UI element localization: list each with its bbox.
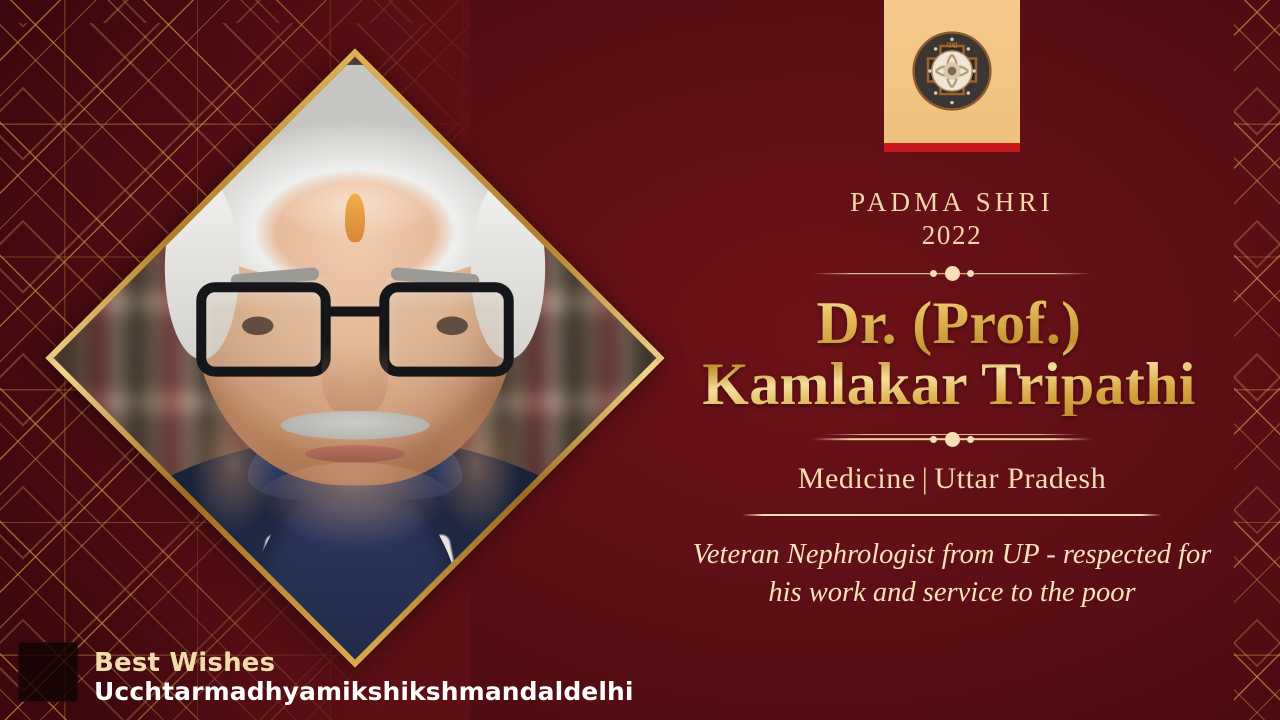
field-label: Medicine [798, 462, 916, 495]
padma-shri-award-card: पद्म [0, 0, 1280, 720]
field-and-state: Medicine|Uttar Pradesh [798, 462, 1107, 496]
svg-text:पद्म: पद्म [946, 41, 958, 51]
right-decorative-pattern [1234, 0, 1280, 720]
portrait-mustache [281, 411, 430, 440]
portrait-head [193, 88, 516, 486]
state-label: Uttar Pradesh [934, 462, 1106, 495]
glasses-bridge [325, 307, 385, 317]
organisation-logo-icon [18, 642, 78, 702]
divider-dot-right [967, 270, 974, 277]
diamond-photo-frame [45, 48, 664, 667]
portrait-mouth [305, 445, 405, 462]
field-separator: | [916, 462, 935, 495]
footer: Best Wishes Ucchtarmadhyamikshikshmandal… [18, 642, 634, 706]
glasses-lens-left [196, 282, 330, 376]
portrait-chin [255, 462, 455, 548]
diamond-photo-inner [50, 53, 659, 662]
padma-shri-medal-icon: पद्म [904, 23, 1000, 119]
award-year: 2022 [922, 220, 982, 251]
portrait-nose [322, 342, 388, 419]
honoree-name-line-1: Dr. (Prof.) [817, 290, 1082, 356]
divider-dot-center [945, 266, 960, 281]
portrait-tilak [345, 194, 365, 243]
award-name: PADMA SHRI [850, 188, 1054, 217]
ornament-divider-bottom [812, 430, 1092, 448]
honoree-name: Dr. (Prof.) Kamlakar Tripathi [662, 293, 1237, 417]
divider-dot-right-b [967, 436, 974, 443]
best-wishes-label: Best Wishes [94, 649, 634, 678]
ornament-divider-top [812, 265, 1092, 283]
divider-dot-center-b [945, 432, 960, 447]
lattice-diamond-accents-right [1234, 0, 1280, 720]
glasses-lens-right [379, 282, 513, 376]
award-details-column: पद्म [655, 0, 1235, 720]
organisation-name: Ucchtarmadhyamikshikshmandaldelhi [94, 678, 634, 706]
medal-banner: पद्म [884, 0, 1020, 152]
honoree-name-line-2: Kamlakar Tripathi [662, 354, 1237, 416]
honoree-bio: Veteran Nephrologist from UP - respected… [682, 536, 1222, 612]
footer-text: Best Wishes Ucchtarmadhyamikshikshmandal… [94, 649, 634, 706]
horizontal-rule [742, 514, 1162, 516]
divider-dot-left-b [930, 436, 937, 443]
honoree-portrait-photo [45, 48, 664, 667]
portrait-container [65, 48, 645, 668]
divider-dot-left [930, 270, 937, 277]
